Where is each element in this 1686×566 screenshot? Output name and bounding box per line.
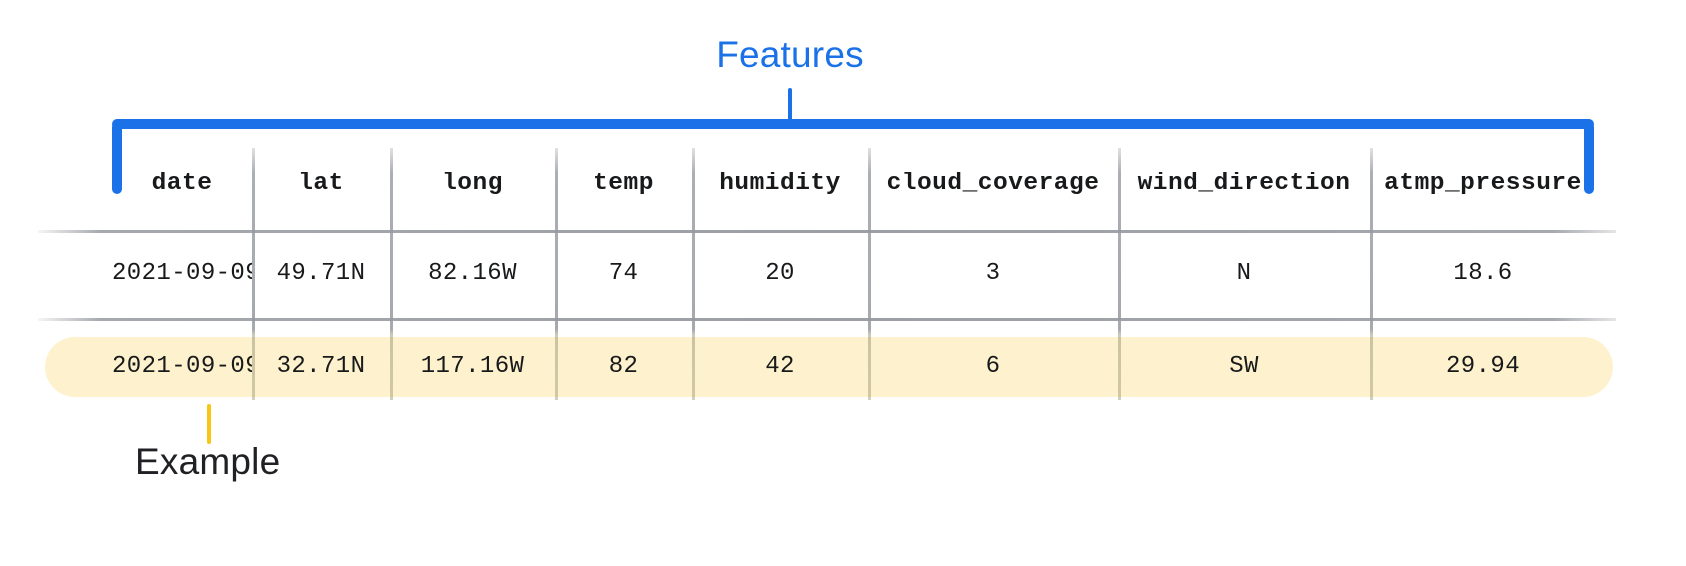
cell-humidity: 42 [692,355,868,379]
example-annotation: Example [0,398,1686,566]
table-row: 2021-09-09 49.71N 82.16W 74 20 3 N 18.6 [0,244,1686,304]
column-header-temp: temp [555,172,692,197]
cell-long: 117.16W [390,355,555,379]
cell-humidity: 20 [692,262,868,286]
table-row-highlighted: 2021-09-09 32.71N 117.16W 82 42 6 SW 29.… [0,338,1686,396]
example-annotation-label: Example [135,440,280,484]
cell-temp: 82 [555,355,692,379]
column-header-wind-direction: wind_direction [1118,172,1370,197]
cell-date: 2021-09-09 [112,355,252,379]
features-connector-line [788,88,792,124]
table-header-row: date lat long temp humidity cloud_covera… [0,154,1686,214]
cell-lat: 49.71N [252,262,390,286]
features-annotation-label: Features [640,36,940,73]
cell-date: 2021-09-09 [112,262,252,286]
cell-atmp-pressure: 29.94 [1370,355,1596,379]
column-header-lat: lat [252,172,390,197]
column-header-long: long [390,172,555,197]
cell-temp: 74 [555,262,692,286]
cell-wind-direction: SW [1118,355,1370,379]
cell-lat: 32.71N [252,355,390,379]
cell-cloud-coverage: 3 [868,262,1118,286]
row-separator-rule [38,318,1616,321]
column-header-humidity: humidity [692,172,868,197]
column-header-date: date [112,172,252,197]
column-header-atmp-pressure: atmp_pressure [1370,172,1596,197]
cell-long: 82.16W [390,262,555,286]
data-table: date lat long temp humidity cloud_covera… [0,140,1686,402]
cell-atmp-pressure: 18.6 [1370,262,1596,286]
cell-wind-direction: N [1118,262,1370,286]
column-header-cloud-coverage: cloud_coverage [868,172,1118,197]
header-separator-rule [38,230,1616,233]
example-connector-line [207,404,211,444]
features-bracket-bar [112,119,1594,129]
cell-cloud-coverage: 6 [868,355,1118,379]
